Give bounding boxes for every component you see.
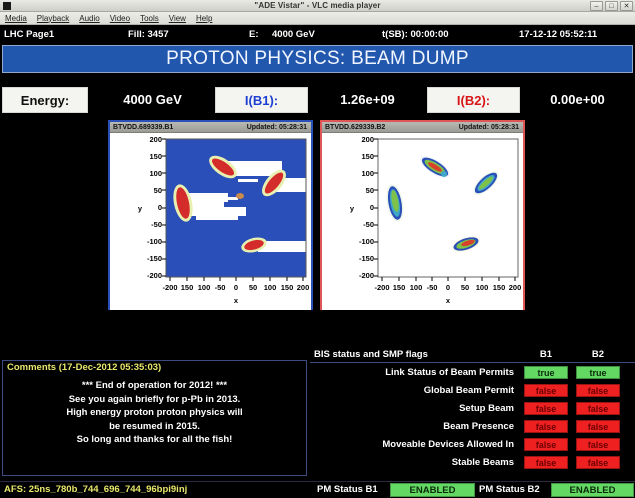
svg-text:50: 50 xyxy=(154,186,162,195)
bis-col-b1: B1 xyxy=(522,348,570,362)
status-badge: false xyxy=(576,384,620,397)
svg-text:100: 100 xyxy=(410,283,423,292)
plot-updated-b2: Updated: 05:28:31 xyxy=(459,122,519,133)
status-badge: false xyxy=(524,438,568,451)
table-row: Stable Beams false false xyxy=(310,454,635,471)
svg-text:100: 100 xyxy=(149,169,162,178)
bis-col-b2: B2 xyxy=(574,348,622,362)
svg-text:0: 0 xyxy=(158,203,162,212)
minimize-icon[interactable]: – xyxy=(590,1,603,11)
bis-row-label: Moveable Devices Allowed In xyxy=(310,436,514,453)
table-row: Moveable Devices Allowed In false false xyxy=(310,436,635,453)
ib1-cell-label: I(B1): xyxy=(215,87,308,113)
menu-item-audio[interactable]: Audio xyxy=(79,14,99,23)
menu-item-help[interactable]: Help xyxy=(196,14,212,23)
svg-text:-200: -200 xyxy=(162,283,177,292)
lower-section: Comments (17-Dec-2012 05:35:03) *** End … xyxy=(0,348,635,480)
bis-header: BIS status and SMP flags B1 B2 xyxy=(310,348,635,362)
plot-device-name-b2: BTVDD.629339.B2 xyxy=(325,122,385,133)
comment-line: *** End of operation for 2012! *** xyxy=(3,379,306,393)
plot-header-b2: BTVDD.629339.B2 Updated: 05:28:31 xyxy=(322,122,523,133)
svg-text:100: 100 xyxy=(264,283,277,292)
plot-header-b1: BTVDD.689339.B1 Updated: 05:28:31 xyxy=(110,122,311,133)
window-title: "ADE Vistar" - VLC media player xyxy=(0,0,635,12)
svg-text:150: 150 xyxy=(149,152,162,161)
table-row: Beam Presence false false xyxy=(310,418,635,435)
comment-line: High energy proton proton physics will xyxy=(3,406,306,420)
svg-text:-50: -50 xyxy=(427,283,438,292)
svg-text:200: 200 xyxy=(297,283,310,292)
svg-text:0: 0 xyxy=(370,203,374,212)
plot-canvas-b2: 200 150 100 50 0 -50 -100 -150 -200 xyxy=(322,133,523,307)
svg-text:-200: -200 xyxy=(374,283,389,292)
svg-text:100: 100 xyxy=(198,283,211,292)
close-icon[interactable]: ✕ xyxy=(620,1,633,11)
plot-panel-b2[interactable]: BTVDD.629339.B2 Updated: 05:28:31 xyxy=(320,120,525,310)
svg-text:-150: -150 xyxy=(359,254,374,263)
status-badge: false xyxy=(576,420,620,433)
svg-text:200: 200 xyxy=(509,283,522,292)
maximize-icon[interactable]: □ xyxy=(605,1,618,11)
plot-canvas-b1: 200 150 100 50 0 -50 -100 -150 -200 xyxy=(110,133,311,307)
stable-beam-timer: t(SB): 00:00:00 xyxy=(382,26,449,44)
svg-text:200: 200 xyxy=(149,135,162,144)
comment-line: See you again briefly for p-Pb in 2013. xyxy=(3,393,306,407)
bis-title: BIS status and SMP flags xyxy=(314,348,428,362)
svg-text:-100: -100 xyxy=(359,237,374,246)
svg-text:50: 50 xyxy=(366,186,374,195)
plot-svg-b1: 200 150 100 50 0 -50 -100 -150 -200 xyxy=(110,133,311,310)
menu-item-tools[interactable]: Tools xyxy=(140,14,159,23)
svg-text:150: 150 xyxy=(393,283,406,292)
svg-text:0: 0 xyxy=(234,283,238,292)
window-controls: – □ ✕ xyxy=(590,1,633,11)
energy-label: E: xyxy=(249,26,259,44)
svg-text:-200: -200 xyxy=(147,271,162,280)
menu-item-view[interactable]: View xyxy=(169,14,186,23)
status-badge: false xyxy=(576,438,620,451)
menu-bar: Media Playback Audio Video Tools View He… xyxy=(0,12,635,25)
status-badge: false xyxy=(576,456,620,469)
svg-text:-200: -200 xyxy=(359,271,374,280)
ib2-cell-value: 0.00e+00 xyxy=(522,87,633,113)
svg-text:200: 200 xyxy=(361,135,374,144)
svg-text:100: 100 xyxy=(476,283,489,292)
svg-text:-50: -50 xyxy=(215,283,226,292)
svg-text:50: 50 xyxy=(461,283,469,292)
energy-value: 4000 GeV xyxy=(272,26,315,44)
lhc-vistar-window: "ADE Vistar" - VLC media player – □ ✕ Me… xyxy=(0,0,635,498)
svg-text:150: 150 xyxy=(281,283,294,292)
status-badge: false xyxy=(524,384,568,397)
bis-row-label: Link Status of Beam Permits xyxy=(310,364,514,381)
comment-line: be resumed in 2015. xyxy=(3,420,306,434)
svg-text:150: 150 xyxy=(493,283,506,292)
afs-filling-scheme: AFS: 25ns_780b_744_696_744_96bpi9inj xyxy=(4,482,187,498)
footer-bar: AFS: 25ns_780b_744_696_744_96bpi9inj PM … xyxy=(0,481,635,498)
page-title: LHC Page1 xyxy=(4,26,54,44)
plot-svg-b2: 200 150 100 50 0 -50 -100 -150 -200 xyxy=(322,133,523,310)
bis-row-label: Beam Presence xyxy=(310,418,514,435)
svg-text:-100: -100 xyxy=(147,237,162,246)
window-titlebar[interactable]: "ADE Vistar" - VLC media player – □ ✕ xyxy=(0,0,635,12)
svg-text:150: 150 xyxy=(361,152,374,161)
svg-text:150: 150 xyxy=(181,283,194,292)
timestamp: 17-12-12 05:52:11 xyxy=(519,26,597,44)
status-badge: false xyxy=(524,456,568,469)
bis-divider xyxy=(310,362,635,363)
svg-text:0: 0 xyxy=(446,283,450,292)
beam-parameter-row: Energy: 4000 GeV I(B1): 1.26e+09 I(B2): … xyxy=(0,85,635,115)
ib2-cell-label: I(B2): xyxy=(427,87,520,113)
status-badge: false xyxy=(524,420,568,433)
pm-status-b1-label: PM Status B1 xyxy=(317,482,378,498)
lhc-status-strip: LHC Page1 Fill: 3457 E: 4000 GeV t(SB): … xyxy=(0,26,635,44)
bis-row-label: Setup Beam xyxy=(310,400,514,417)
svg-text:100: 100 xyxy=(361,169,374,178)
menu-item-media[interactable]: Media xyxy=(5,14,27,23)
plot-device-name-b1: BTVDD.689339.B1 xyxy=(113,122,173,133)
fill-number: Fill: 3457 xyxy=(128,26,169,44)
mode-banner: PROTON PHYSICS: BEAM DUMP xyxy=(2,45,633,73)
bis-row-label: Stable Beams xyxy=(310,454,514,471)
plot-panel-b1[interactable]: BTVDD.689339.B1 Updated: 05:28:31 xyxy=(108,120,313,310)
energy-cell-value: 4000 GeV xyxy=(90,87,215,113)
pm-status-b1-value: ENABLED xyxy=(390,483,475,497)
energy-cell-label: Energy: xyxy=(2,87,88,113)
table-row: Link Status of Beam Permits true true xyxy=(310,364,635,381)
comments-body: *** End of operation for 2012! *** See y… xyxy=(3,379,306,447)
svg-text:-150: -150 xyxy=(147,254,162,263)
table-row: Setup Beam false false xyxy=(310,400,635,417)
bis-row-label: Global Beam Permit xyxy=(310,382,514,399)
menu-item-video[interactable]: Video xyxy=(110,14,130,23)
comments-panel: Comments (17-Dec-2012 05:35:03) *** End … xyxy=(2,360,307,476)
comments-title: Comments (17-Dec-2012 05:35:03) xyxy=(7,362,161,373)
menu-item-playback[interactable]: Playback xyxy=(37,14,69,23)
pm-status-b2-value: ENABLED xyxy=(551,483,634,497)
status-badge: false xyxy=(576,402,620,415)
status-badge: false xyxy=(524,402,568,415)
ib1-cell-value: 1.26e+09 xyxy=(310,87,425,113)
comment-line: So long and thanks for all the fish! xyxy=(3,433,306,447)
beam-screen-plots: BTVDD.689339.B1 Updated: 05:28:31 xyxy=(0,116,635,348)
status-badge: true xyxy=(576,366,620,379)
svg-text:-50: -50 xyxy=(363,220,374,229)
table-row: Global Beam Permit false false xyxy=(310,382,635,399)
svg-text:50: 50 xyxy=(249,283,257,292)
pm-status-b2-label: PM Status B2 xyxy=(479,482,540,498)
bis-status-panel: BIS status and SMP flags B1 B2 Link Stat… xyxy=(310,348,635,480)
plot-updated-b1: Updated: 05:28:31 xyxy=(247,122,307,133)
svg-text:-50: -50 xyxy=(151,220,162,229)
status-badge: true xyxy=(524,366,568,379)
